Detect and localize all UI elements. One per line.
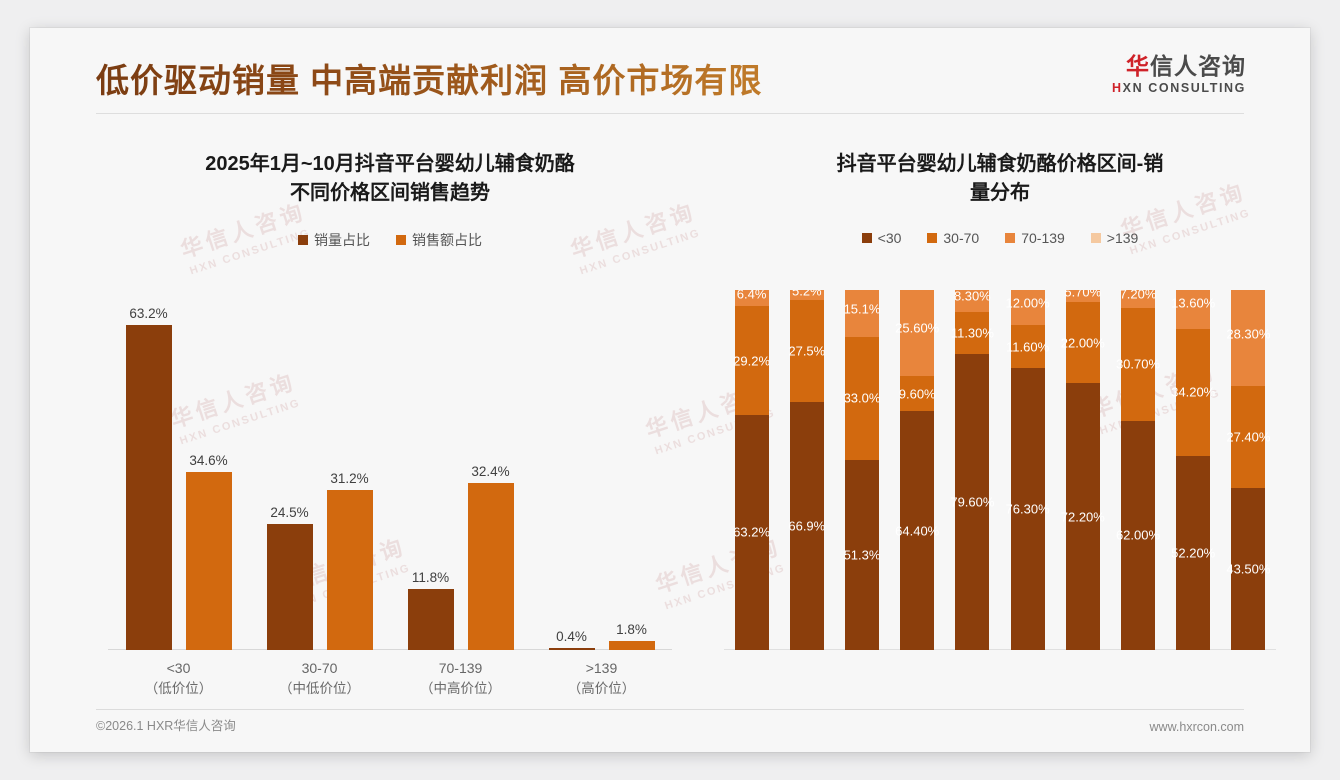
stack-segment[interactable]: 11.60% — [1011, 325, 1045, 368]
bar-group: 24.5%31.2% — [249, 290, 390, 650]
legend-item-left-0[interactable]: 销量占比 — [298, 230, 370, 250]
bar[interactable]: 1.8% — [609, 641, 655, 650]
legend-swatch-icon — [396, 235, 406, 245]
chart-right-title: 抖音平台婴幼儿辅食奶酪价格区间-销 量分布 — [710, 138, 1290, 208]
slide-canvas: 华信人咨询 HXN CONSULTING 华信人咨询 HXN CONSULTIN… — [30, 28, 1310, 752]
bar-value-label: 63.2% — [129, 306, 167, 321]
stack-segment-label: 27.40% — [1226, 430, 1270, 445]
stacked-bar-column[interactable]: 0.30%25.60%9.60%64.40% — [900, 290, 934, 650]
logo-english: HXN CONSULTING — [1112, 80, 1246, 96]
stack-segment[interactable]: 11.30% — [955, 312, 989, 354]
bar-fill — [609, 641, 655, 650]
stack-segment-label: 72.20% — [1061, 509, 1105, 524]
stack-segment[interactable]: 25.60% — [900, 290, 934, 376]
legend-item-right-1[interactable]: 30-70 — [927, 230, 979, 246]
legend-item-left-1[interactable]: 销售额占比 — [396, 230, 482, 250]
stack-segment-label: 11.60% — [1006, 339, 1049, 354]
stack-segment[interactable]: 79.60% — [955, 354, 989, 650]
bar-fill — [468, 483, 514, 650]
stack-segment-label: 33.0% — [844, 391, 881, 406]
stack-segment[interactable]: 43.50% — [1231, 488, 1265, 650]
logo-chinese: 华信人咨询 — [1112, 54, 1246, 78]
x-axis-tick-label: <30（低价位） — [108, 658, 249, 699]
logo-en-rest: XN CONSULTING — [1123, 81, 1246, 95]
stack-segment-label: 66.9% — [788, 519, 825, 534]
stack-segment-label: 30.70% — [1116, 357, 1160, 372]
stack-segment-label: 25.60% — [895, 321, 939, 336]
legend-swatch-icon — [1005, 233, 1015, 243]
stack-segment[interactable]: 76.30% — [1011, 368, 1045, 650]
x-tick-sub: （高价位） — [531, 679, 672, 699]
bar-value-label: 1.8% — [616, 622, 647, 637]
slide-header: 低价驱动销量 中高端贡献利润 高价市场有限 华信人咨询 HXN CONSULTI… — [30, 28, 1310, 118]
stack-segment-label: 64.40% — [895, 523, 939, 538]
bar-value-label: 11.8% — [412, 570, 449, 585]
chart-panel-left: 2025年1月~10月抖音平台婴幼儿辅食奶酪 不同价格区间销售趋势 销量占比销售… — [90, 138, 690, 708]
stacked-bar-column[interactable]: 0.00%13.60%34.20%52.20% — [1176, 290, 1210, 650]
stack-segment-label: 43.50% — [1226, 562, 1270, 577]
bar-fill — [126, 325, 172, 650]
bar[interactable]: 31.2% — [327, 490, 373, 650]
legend-label: 销售额占比 — [412, 230, 482, 250]
stack-segment-label: 22.00% — [1061, 335, 1105, 350]
stack-segment[interactable]: 34.20% — [1176, 329, 1210, 456]
legend-item-right-0[interactable]: <30 — [862, 230, 902, 246]
stacked-bar-column[interactable]: 0.10%7.20%30.70%62.00% — [1121, 290, 1155, 650]
chart-right-legend: <3030-7070-139>139 — [710, 230, 1290, 246]
bar[interactable]: 63.2% — [126, 325, 172, 650]
stacked-bar-column[interactable]: 1.1%6.4%29.2%63.2% — [735, 290, 769, 650]
stack-segment-label: 29.2% — [733, 353, 770, 368]
stack-segment[interactable]: 5.2% — [790, 290, 824, 300]
x-tick-main: <30 — [167, 660, 191, 676]
stack-segment[interactable]: 7.20% — [1121, 290, 1155, 308]
chart-right-title-line1: 抖音平台婴幼儿辅食奶酪价格区间-销 — [720, 150, 1280, 179]
stack-segment-label: 5.2% — [792, 290, 822, 298]
stack-segment-label: 63.2% — [733, 525, 770, 540]
stack-segment[interactable]: 27.5% — [790, 300, 824, 402]
logo-en-accent: H — [1112, 81, 1123, 95]
bar-value-label: 32.4% — [471, 464, 509, 479]
x-tick-main: 70-139 — [439, 660, 483, 676]
x-tick-sub: （低价位） — [108, 679, 249, 699]
chart-left-title: 2025年1月~10月抖音平台婴幼儿辅食奶酪 不同价格区间销售趋势 — [90, 138, 690, 208]
stack-segment-label: 62.00% — [1116, 528, 1160, 543]
chart-panel-right: 抖音平台婴幼儿辅食奶酪价格区间-销 量分布 <3030-7070-139>139… — [710, 138, 1290, 708]
bar-group: 0.4%1.8% — [531, 290, 672, 650]
stack-segment[interactable]: 64.40% — [900, 411, 934, 650]
x-axis-tick-label: 30-70（中低价位） — [249, 658, 390, 699]
bar[interactable]: 0.4% — [549, 648, 595, 650]
stack-segment[interactable]: 12.00% — [1011, 290, 1045, 325]
stack-segment-label: 15.1% — [844, 302, 881, 317]
stack-segment-label: 7.20% — [1120, 290, 1157, 302]
stack-segment[interactable]: 15.1% — [845, 290, 879, 337]
stacked-bar-column[interactable]: 0.7%15.1%33.0%51.3% — [845, 290, 879, 650]
stack-segment-label: 9.60% — [899, 386, 936, 401]
x-tick-sub: （中高价位） — [390, 679, 531, 699]
stack-segment[interactable]: 33.0% — [845, 337, 879, 460]
chart-left-title-line1: 2025年1月~10月抖音平台婴幼儿辅食奶酪 — [100, 150, 680, 179]
stacked-bar-column[interactable]: 0.4%5.2%27.5%66.9% — [790, 290, 824, 650]
brand-logo: 华信人咨询 HXN CONSULTING — [1112, 54, 1246, 96]
legend-label: 70-139 — [1021, 230, 1065, 246]
legend-label: <30 — [878, 230, 902, 246]
chart-right-title-line2: 量分布 — [720, 179, 1280, 208]
bar[interactable]: 11.8% — [408, 589, 454, 650]
chart-left-legend: 销量占比销售额占比 — [90, 230, 690, 250]
stack-segment[interactable]: 72.20% — [1066, 383, 1100, 650]
logo-cn-accent: 华 — [1126, 53, 1150, 79]
stack-segment-label: 12.00% — [1006, 296, 1050, 311]
stack-segment[interactable]: 51.3% — [845, 460, 879, 650]
bar-value-label: 34.6% — [189, 453, 227, 468]
stack-segment-label: 8.30% — [954, 290, 991, 304]
stack-segment-label: 6.4% — [737, 290, 767, 302]
stack-segment-label: 79.60% — [950, 494, 994, 509]
legend-swatch-icon — [927, 233, 937, 243]
stack-segment-label: 34.20% — [1171, 385, 1215, 400]
stack-segment[interactable]: 63.2% — [735, 415, 769, 650]
legend-swatch-icon — [1091, 233, 1101, 243]
page-title: 低价驱动销量 中高端贡献利润 高价市场有限 — [96, 54, 762, 102]
chart-left-title-line2: 不同价格区间销售趋势 — [100, 179, 680, 208]
header-divider — [96, 113, 1244, 114]
stack-segment-label: 28.30% — [1226, 326, 1270, 341]
stack-segment[interactable]: 62.00% — [1121, 421, 1155, 650]
stack-segment[interactable]: 5.70% — [1066, 290, 1100, 302]
legend-label: 销量占比 — [314, 230, 370, 250]
stacked-bar-column[interactable]: 0.10%12.00%11.60%76.30% — [1011, 290, 1045, 650]
stack-segment[interactable]: 6.4% — [735, 290, 769, 306]
stacked-bar-column[interactable]: 0.10%5.70%22.00%72.20% — [1066, 290, 1100, 650]
stack-segment[interactable]: 9.60% — [900, 376, 934, 412]
stacked-bar-column[interactable]: 0.80%8.30%11.30%79.60% — [955, 290, 989, 650]
footer-copyright: ©2026.1 HXR华信人咨询 — [96, 715, 236, 734]
stack-segment[interactable]: 66.9% — [790, 402, 824, 650]
legend-item-right-2[interactable]: 70-139 — [1005, 230, 1065, 246]
bar[interactable]: 32.4% — [468, 483, 514, 650]
x-axis-tick-label: >139（高价位） — [531, 658, 672, 699]
stack-segment[interactable]: 28.30% — [1231, 290, 1265, 386]
stack-segment-label: 52.20% — [1171, 545, 1215, 560]
stacked-bar-column[interactable]: 0.70%28.30%27.40%43.50% — [1231, 290, 1265, 650]
legend-swatch-icon — [862, 233, 872, 243]
x-tick-main: >139 — [586, 660, 618, 676]
bar-fill — [549, 648, 595, 650]
legend-item-right-3[interactable]: >139 — [1091, 230, 1139, 246]
stack-segment-label: 11.30% — [951, 325, 994, 340]
stack-segment[interactable]: 30.70% — [1121, 308, 1155, 421]
footer-divider — [96, 709, 1244, 710]
stack-segment-label: 13.60% — [1171, 296, 1215, 311]
legend-swatch-icon — [298, 235, 308, 245]
x-axis-tick-label: 70-139（中高价位） — [390, 658, 531, 699]
bar-group: 11.8%32.4% — [390, 290, 531, 650]
bar-fill — [267, 524, 313, 650]
stack-segment-label: 5.70% — [1064, 290, 1101, 299]
logo-cn-rest: 信人咨询 — [1150, 53, 1246, 79]
bar-value-label: 0.4% — [556, 629, 587, 644]
stack-segment[interactable]: 13.60% — [1176, 290, 1210, 329]
x-tick-main: 30-70 — [302, 660, 338, 676]
chart-left-plot: 63.2%34.6%<30（低价位）24.5%31.2%30-70（中低价位）1… — [108, 290, 672, 650]
stack-segment[interactable]: 52.20% — [1176, 456, 1210, 650]
bar[interactable]: 34.6% — [186, 472, 232, 650]
footer-website: www.hxrcon.com — [1150, 720, 1244, 734]
chart-right-plot: 1.1%6.4%29.2%63.2%M10.4%5.2%27.5%66.9%M2… — [724, 290, 1276, 650]
legend-label: 30-70 — [943, 230, 979, 246]
stack-segment[interactable]: 29.2% — [735, 306, 769, 415]
bar-fill — [327, 490, 373, 650]
stack-segment[interactable]: 22.00% — [1066, 302, 1100, 383]
stack-segment-label: 76.30% — [1006, 502, 1050, 517]
bar-fill — [186, 472, 232, 650]
bar-value-label: 31.2% — [330, 471, 368, 486]
legend-label: >139 — [1107, 230, 1139, 246]
bar-value-label: 24.5% — [270, 505, 308, 520]
bar[interactable]: 24.5% — [267, 524, 313, 650]
stack-segment-label: 27.5% — [788, 344, 825, 359]
stack-segment[interactable]: 27.40% — [1231, 386, 1265, 488]
stack-segment-label: 51.3% — [844, 547, 881, 562]
stack-segment[interactable]: 8.30% — [955, 290, 989, 312]
bar-group: 63.2%34.6% — [108, 290, 249, 650]
bar-fill — [408, 589, 454, 650]
x-tick-sub: （中低价位） — [249, 679, 390, 699]
